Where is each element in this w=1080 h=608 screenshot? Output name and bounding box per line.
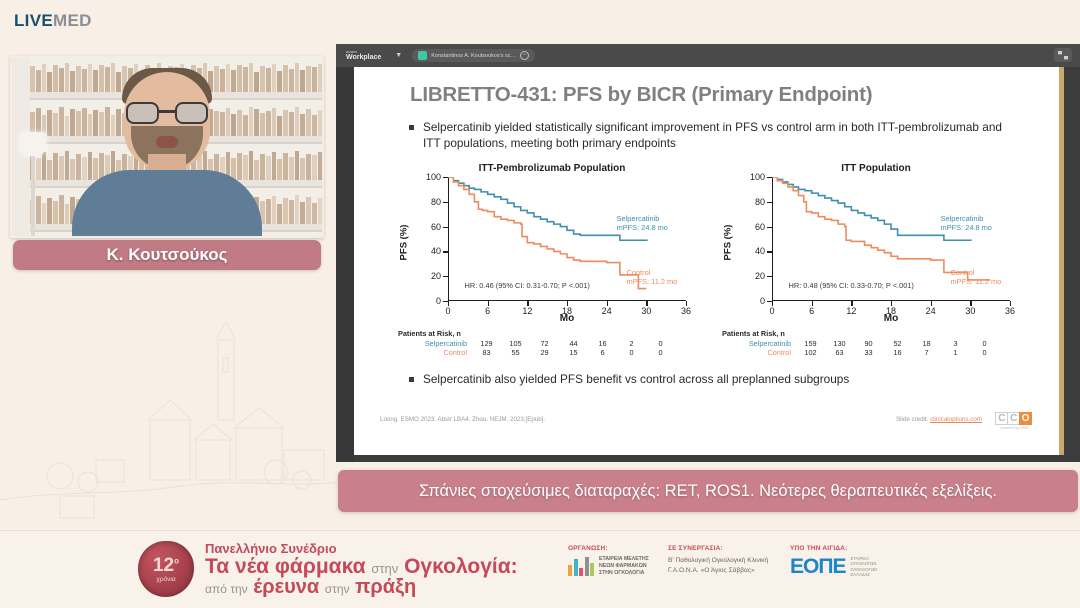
at-risk-value: 33 [854, 348, 883, 357]
share-tab-label: Konstantinos A. Koutsoukos's sc… [431, 53, 516, 59]
speaker-figure [72, 86, 262, 236]
top-bar: LIVEMED [0, 0, 1080, 46]
glasses-icon [126, 102, 208, 124]
at-risk-row-label: Control [722, 348, 796, 357]
y-tick-label: 40 [431, 246, 441, 256]
at-risk-value: 0 [617, 348, 646, 357]
y-tick-label: 0 [436, 296, 441, 306]
at-risk-value: 130 [825, 339, 854, 348]
at-risk-value: 15 [559, 348, 588, 357]
eope-logo-text: ΕΤΑΙΡΕΙΑ ΟΓΚΟΛΟΓΩΝ ΠΑΘΟΛΟΓΩΝ ΕΛΛΑΔΑΣ [851, 556, 878, 578]
y-tick-label: 60 [431, 222, 441, 232]
emfo-logo-text: ΕΤΑΙΡΕΙΑ ΜΕΛΕΤΗΣ ΝΕΩΝ ΦΑΡΜΑΚΩΝ ΣΤΗΝ ΟΓΚΟ… [599, 556, 649, 577]
at-risk-header: Patients at Risk, n [398, 329, 698, 338]
y-tick-label: 20 [431, 271, 441, 281]
sponsor-label-cooperation: ΣΕ ΣΥΝΕΡΓΑΣΙΑ: [668, 545, 768, 552]
series-annotation-control: ControlmPFS: 11.2 mo [627, 268, 678, 287]
series-mpfs: mPFS: 24.8 mo [941, 223, 992, 232]
at-risk-value: 105 [501, 339, 530, 348]
series-mpfs: mPFS: 11.2 mo [951, 277, 1002, 286]
bullet-item-2: Selpercatinib also yielded PFS benefit v… [409, 372, 1019, 388]
sponsor-organizer: ΟΡΓΑΝΩΣΗ: ΕΤΑΙΡΕΙΑ ΜΕΛΕΤΗΣ ΝΕΩΝ ΦΑΡΜΑΚΩΝ… [568, 545, 649, 577]
at-risk-value: 6 [588, 348, 617, 357]
x-tick-label: 36 [681, 306, 691, 316]
at-risk-value: 0 [646, 348, 675, 357]
shared-screen-window[interactable]: zoom Workplace ▼ Konstantinos A. Koutsou… [336, 44, 1080, 462]
series-annotation-selpercatinib: SelpercatinibmPFS: 24.8 mo [941, 214, 992, 233]
slide-footer: Loong. ESMO 2023. Abstr LBA4. Zhou. NEJM… [380, 412, 1038, 434]
chevron-down-icon[interactable]: ▼ [395, 52, 402, 59]
patients-at-risk-table-1: Patients at Risk, nSelpercatinib12910572… [398, 329, 698, 357]
clinicaloptions-link[interactable]: clinicaloptions.com [930, 416, 982, 423]
zoom-toolbar: zoom Workplace ▼ Konstantinos A. Koutsou… [336, 44, 1080, 67]
speaker-name: Κ. Κουτσούκος [106, 245, 227, 265]
cco-logo: CCO powered by CME [997, 412, 1032, 430]
citation-text: Loong. ESMO 2023. Abstr LBA4. Zhou. NEJM… [380, 416, 545, 423]
y-tick-label: 20 [755, 271, 765, 281]
zoom-logo-big: Workplace [346, 54, 381, 61]
slide-sidebar-strip [336, 67, 354, 462]
hazard-ratio-annotation: HR: 0.48 (95% CI: 0.33-0.70; P <.001) [789, 281, 914, 290]
km-curve-control [448, 177, 646, 289]
bullet-text-2: Selpercatinib also yielded PFS benefit v… [423, 372, 849, 388]
at-risk-value: 7 [912, 348, 941, 357]
slide-credit: Slide credit: clinicaloptions.com [896, 416, 982, 423]
x-tick-label: 18 [886, 306, 896, 316]
floor-lamp [20, 132, 46, 238]
y-tick-label: 80 [755, 197, 765, 207]
at-risk-value: 16 [588, 339, 617, 348]
x-tick-label: 12 [522, 306, 532, 316]
series-mpfs: mPFS: 11.2 mo [627, 277, 678, 286]
table-row: Control83552915600 [398, 348, 698, 357]
cooperation-text: Β' Παθολογική Ογκολογική Κλινική Γ.Α.Ο.Ν… [668, 556, 768, 575]
at-risk-value: 16 [883, 348, 912, 357]
anniversary-seal-icon: 12ο χρόνια [138, 541, 194, 597]
slide-accent-bar [1059, 67, 1064, 455]
bullet-square-icon [409, 125, 414, 130]
sponsor-cooperation: ΣΕ ΣΥΝΕΡΓΑΣΙΑ: Β' Παθολογική Ογκολογική … [668, 545, 768, 575]
at-risk-value: 63 [825, 348, 854, 357]
at-risk-value: 44 [559, 339, 588, 348]
km-chart-2: ITT PopulationPFS (%)Mo02040608010006121… [726, 163, 1026, 323]
at-risk-value: 18 [912, 339, 941, 348]
cco-sublabel: powered by CME [1000, 426, 1028, 430]
y-tick-label: 60 [755, 222, 765, 232]
at-risk-value: 2 [617, 339, 646, 348]
at-risk-value: 83 [472, 348, 501, 357]
table-row: Selpercatinib12910572441620 [398, 339, 698, 348]
zoom-workplace-logo: zoom Workplace [346, 50, 381, 61]
bullet-square-icon [409, 377, 414, 382]
sponsor-label-organizer: ΟΡΓΑΝΩΣΗ: [568, 545, 649, 552]
at-risk-value: 72 [530, 339, 559, 348]
at-risk-row-label: Control [398, 348, 472, 357]
plot-area: 020406080100061218243036HR: 0.46 (95% CI… [448, 177, 686, 301]
patients-at-risk-table-2: Patients at Risk, nSelpercatinib15913090… [722, 329, 1022, 357]
x-tick-label: 24 [926, 306, 936, 316]
conference-line1: Πανελλήνιο Συνέδριο [205, 541, 518, 556]
conference-banner: 12ο χρόνια Πανελλήνιο Συνέδριο Τα νέα φά… [0, 530, 1080, 608]
x-tick-label: 0 [445, 306, 450, 316]
y-tick-label: 80 [431, 197, 441, 207]
at-risk-value: 0 [646, 339, 675, 348]
cco-letter-o-2: O [1019, 412, 1032, 425]
share-tab[interactable]: Konstantinos A. Koutsoukos's sc… − [412, 49, 535, 62]
at-risk-value: 0 [970, 339, 999, 348]
at-risk-value: 55 [501, 348, 530, 357]
x-tick-label: 30 [641, 306, 651, 316]
chart-title: ITT-Pembrolizumab Population [402, 163, 702, 174]
at-risk-value: 90 [854, 339, 883, 348]
brand-live: LIVE [14, 11, 53, 30]
expand-icon[interactable] [1054, 48, 1072, 62]
y-tick-label: 0 [760, 296, 765, 306]
series-annotation-control: ControlmPFS: 11.2 mo [951, 268, 1002, 287]
series-name: Selpercatinib [617, 214, 668, 223]
at-risk-header: Patients at Risk, n [722, 329, 1022, 338]
cityscape-watermark [0, 300, 340, 540]
x-tick-label: 12 [846, 306, 856, 316]
seal-number: 12ο [153, 556, 179, 575]
seal-years: χρόνια [156, 576, 175, 583]
y-tick-label: 100 [750, 172, 765, 182]
x-tick-label: 24 [602, 306, 612, 316]
sponsor-auspices: ΥΠΟ ΤΗΝ ΑΙΓΙΔΑ: ΕΟΠΕ ΕΤΑΙΡΕΙΑ ΟΓΚΟΛΟΓΩΝ … [790, 545, 877, 578]
at-risk-row-label: Selpercatinib [722, 339, 796, 348]
x-tick-label: 0 [769, 306, 774, 316]
chart-title: ITT Population [726, 163, 1026, 174]
x-tick-label: 6 [809, 306, 814, 316]
y-tick-label: 40 [755, 246, 765, 256]
series-name: Selpercatinib [941, 214, 992, 223]
caption-text: Σπάνιες στοχεύσιμες διαταραχές: RET, ROS… [419, 482, 997, 501]
livemed-logo: LIVEMED [14, 11, 92, 31]
table-row: Selpercatinib15913090521830 [722, 339, 1022, 348]
at-risk-value: 29 [530, 348, 559, 357]
table-row: Control102633316710 [722, 348, 1022, 357]
caption-banner: Σπάνιες στοχεύσιμες διαταραχές: RET, ROS… [338, 470, 1078, 512]
at-risk-row-label: Selpercatinib [398, 339, 472, 348]
at-risk-value: 52 [883, 339, 912, 348]
plot-area: 020406080100061218243036HR: 0.48 (95% CI… [772, 177, 1010, 301]
series-mpfs: mPFS: 24.8 mo [617, 223, 668, 232]
x-tick-label: 18 [562, 306, 572, 316]
at-risk-value: 0 [970, 348, 999, 357]
series-annotation-selpercatinib: SelpercatinibmPFS: 24.8 mo [617, 214, 668, 233]
emfo-logo-icon [568, 557, 594, 576]
page-title: LIBRETTO-431: PFS by BICR (Primary Endpo… [410, 83, 872, 107]
presentation-slide: LIBRETTO-431: PFS by BICR (Primary Endpo… [354, 67, 1064, 455]
conference-line3: από την έρευνα στην πράξη [205, 576, 518, 599]
speaker-name-banner: Κ. Κουτσούκος [13, 240, 321, 270]
series-name: Control [627, 268, 678, 277]
x-tick-label: 6 [485, 306, 490, 316]
conference-title-block: Πανελλήνιο Συνέδριο Τα νέα φάρμακα στην … [205, 541, 518, 599]
sponsor-label-auspices: ΥΠΟ ΤΗΝ ΑΙΓΙΔΑ: [790, 545, 877, 552]
avatar [418, 51, 427, 60]
at-risk-value: 1 [941, 348, 970, 357]
hazard-ratio-annotation: HR: 0.46 (95% CI: 0.31-0.70; P <.001) [465, 281, 590, 290]
bullet-text-1: Selpercatinib yielded statistically sign… [423, 120, 1009, 152]
series-name: Control [951, 268, 1002, 277]
y-tick-label: 100 [426, 172, 441, 182]
video-scene [12, 58, 322, 236]
km-chart-1: ITT-Pembrolizumab PopulationPFS (%)Mo020… [402, 163, 702, 323]
at-risk-value: 159 [796, 339, 825, 348]
x-tick-label: 30 [965, 306, 975, 316]
eope-logo-icon: ΕΟΠΕ [790, 556, 846, 577]
x-tick-label: 36 [1005, 306, 1015, 316]
at-risk-value: 102 [796, 348, 825, 357]
at-risk-value: 129 [472, 339, 501, 348]
y-axis-label: PFS (%) [723, 225, 734, 261]
bullet-item-1: Selpercatinib yielded statistically sign… [409, 120, 1009, 152]
at-risk-value: 3 [941, 339, 970, 348]
y-axis-label: PFS (%) [399, 225, 410, 261]
speaker-video[interactable] [10, 56, 324, 238]
brand-med: MED [53, 11, 92, 30]
slide-credit-label: Slide credit: [896, 416, 930, 423]
close-icon[interactable]: − [520, 51, 529, 60]
